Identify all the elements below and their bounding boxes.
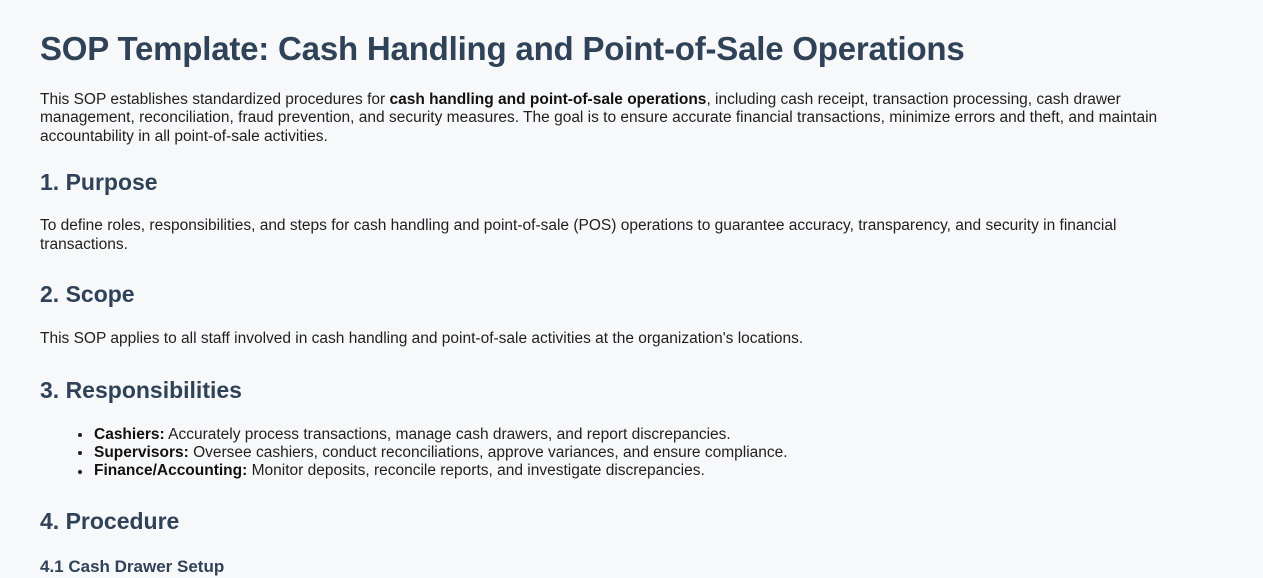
spacer	[40, 405, 1223, 426]
spacer	[40, 254, 1223, 281]
spacer	[40, 535, 1223, 557]
subsection-heading-cash-drawer-setup: 4.1 Cash Drawer Setup	[40, 557, 1223, 577]
list-item: Cashiers: Accurately process transaction…	[78, 426, 1223, 444]
spacer	[40, 481, 1223, 508]
section-heading-responsibilities: 3. Responsibilities	[40, 377, 1223, 405]
list-item-text: Oversee cashiers, conduct reconciliation…	[189, 444, 788, 461]
list-item-text: Monitor deposits, reconcile reports, and…	[247, 462, 705, 479]
list-item: Finance/Accounting: Monitor deposits, re…	[78, 462, 1223, 480]
responsibilities-list: Cashiers: Accurately process transaction…	[40, 426, 1223, 481]
intro-text-part1: This SOP establishes standardized proced…	[40, 91, 390, 108]
intro-paragraph: This SOP establishes standardized proced…	[40, 91, 1200, 146]
spacer	[40, 196, 1223, 217]
document-page: SOP Template: Cash Handling and Point-of…	[0, 0, 1263, 578]
section-paragraph-scope: This SOP applies to all staff involved i…	[40, 330, 1200, 348]
list-item-label: Cashiers:	[94, 426, 165, 443]
section-heading-scope: 2. Scope	[40, 281, 1223, 309]
section-heading-procedure: 4. Procedure	[40, 508, 1223, 536]
list-item: Supervisors: Oversee cashiers, conduct r…	[78, 444, 1223, 462]
page-title: SOP Template: Cash Handling and Point-of…	[40, 30, 1223, 69]
spacer	[40, 146, 1223, 169]
intro-text-bold: cash handling and point-of-sale operatio…	[390, 91, 707, 108]
section-paragraph-purpose: To define roles, responsibilities, and s…	[40, 217, 1200, 254]
spacer	[40, 348, 1223, 377]
spacer	[40, 309, 1223, 330]
section-heading-purpose: 1. Purpose	[40, 169, 1223, 197]
list-item-label: Supervisors:	[94, 444, 189, 461]
list-item-label: Finance/Accounting:	[94, 462, 247, 479]
list-item-text: Accurately process transactions, manage …	[165, 426, 731, 443]
